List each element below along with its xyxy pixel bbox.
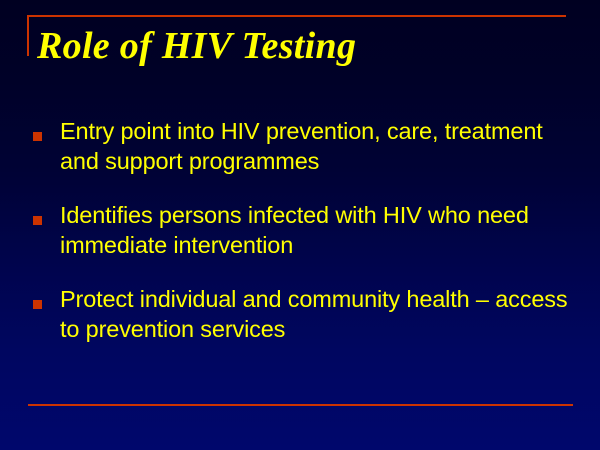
footer-rule xyxy=(28,404,573,406)
list-item: Identifies persons infected with HIV who… xyxy=(33,200,581,260)
square-bullet-icon xyxy=(33,300,42,309)
square-bullet-icon xyxy=(33,132,42,141)
list-item: Protect individual and community health … xyxy=(33,284,581,344)
title-top-rule xyxy=(27,15,566,17)
list-item-label: Entry point into HIV prevention, care, t… xyxy=(60,116,581,176)
title-left-rule xyxy=(27,15,29,56)
list-item-label: Protect individual and community health … xyxy=(60,284,581,344)
list-item: Entry point into HIV prevention, care, t… xyxy=(33,116,581,176)
presentation-slide: Role of HIV Testing Entry point into HIV… xyxy=(0,0,600,450)
bullet-list: Entry point into HIV prevention, care, t… xyxy=(33,116,581,344)
list-item-label: Identifies persons infected with HIV who… xyxy=(60,200,581,260)
slide-title: Role of HIV Testing xyxy=(37,24,577,68)
square-bullet-icon xyxy=(33,216,42,225)
